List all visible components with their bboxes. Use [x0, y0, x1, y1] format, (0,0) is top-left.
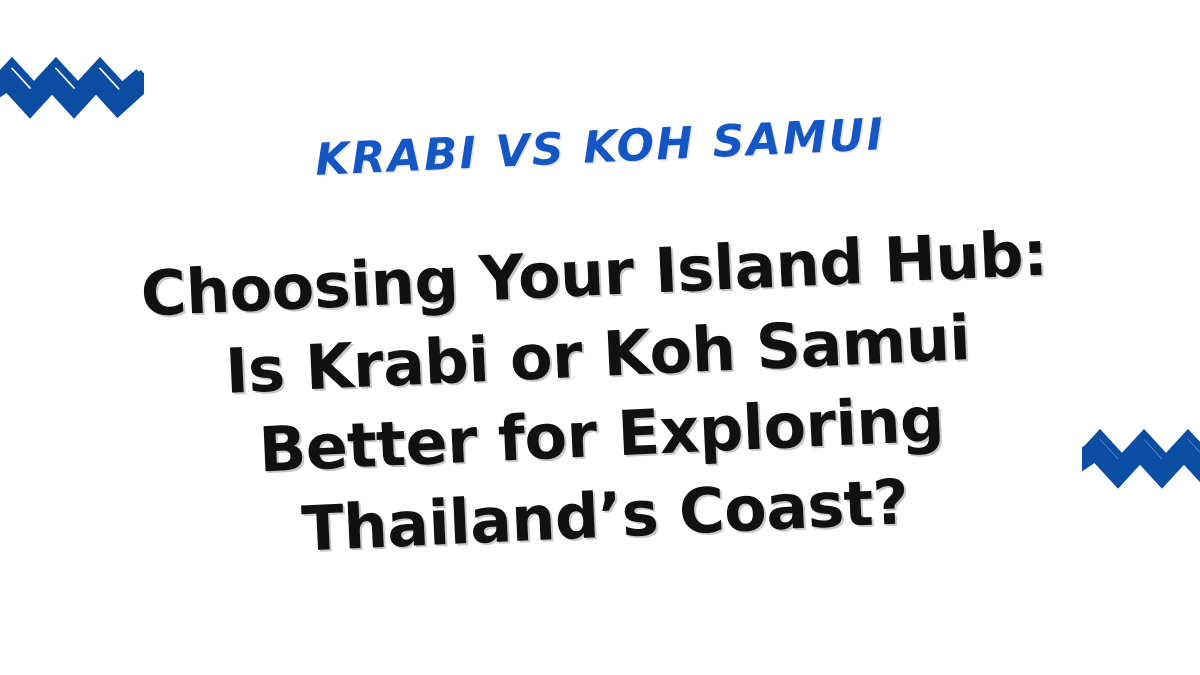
- page-title: Choosing Your Island Hub: Is Krabi or Ko…: [140, 213, 1061, 576]
- blog-header-card: KRABI VS KOH SAMUI Choosing Your Island …: [0, 0, 1200, 675]
- header-text-block: KRABI VS KOH SAMUI Choosing Your Island …: [0, 0, 1200, 675]
- kicker-label: KRABI VS KOH SAMUI: [314, 113, 886, 183]
